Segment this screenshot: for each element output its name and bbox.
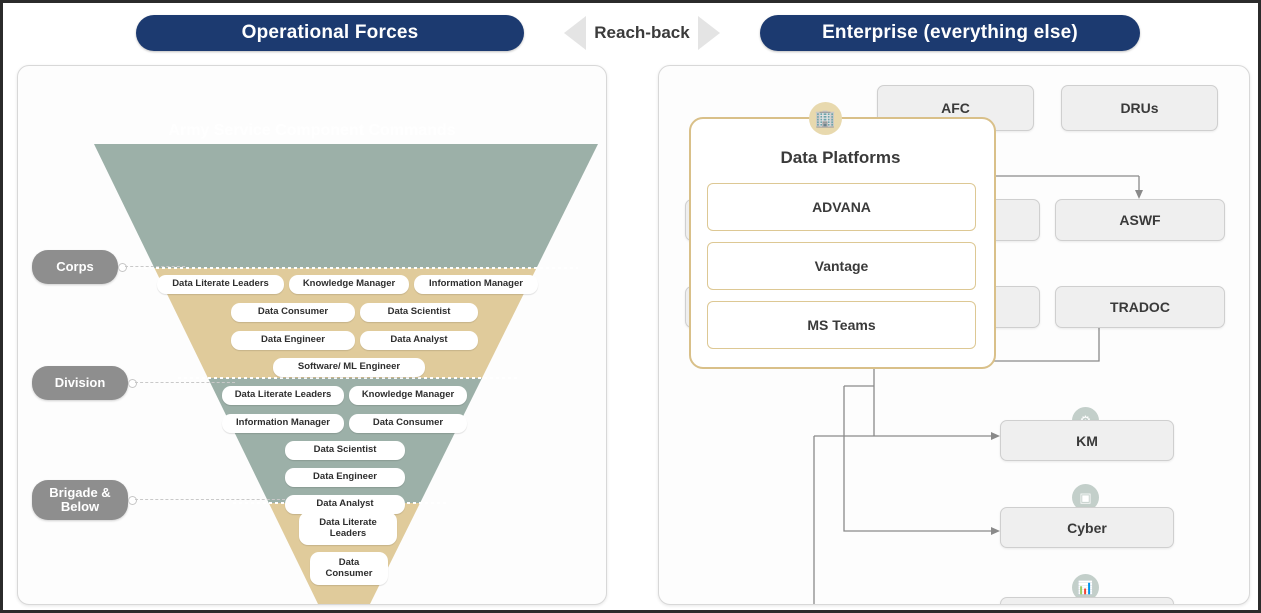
role-chip[interactable]: Data Engineer — [285, 468, 405, 487]
data-platform-item-advana[interactable]: ADVANA — [707, 183, 976, 231]
service-box-data-analytics[interactable]: Data & Analytics — [1000, 597, 1174, 605]
header-pill-enterprise[interactable]: Enterprise (everything else) — [760, 15, 1140, 51]
role-chip[interactable]: Data Analyst — [360, 331, 478, 350]
role-chip[interactable]: Data Scientist — [285, 441, 405, 460]
tier-label-division[interactable]: Division — [32, 366, 128, 400]
role-chip[interactable]: Data Literate Leaders — [299, 512, 397, 545]
org-box-aswf[interactable]: ASWF — [1055, 199, 1225, 241]
role-chip[interactable]: Data Consumer — [231, 303, 355, 322]
connector-line-brigade — [135, 499, 285, 500]
inverted-pyramid: Army Service Component Commands Corps Di… — [18, 66, 606, 604]
tier-label-corps[interactable]: Corps — [32, 250, 118, 284]
data-platform-item-ms-teams[interactable]: MS Teams — [707, 301, 976, 349]
operational-forces-panel: Army Service Component Commands Corps Di… — [17, 65, 607, 605]
service-box-cyber[interactable]: Cyber — [1000, 507, 1174, 548]
role-chip[interactable]: Data Scientist — [360, 303, 478, 322]
diagram-page: Operational Forces Reach-back Enterprise… — [0, 0, 1261, 613]
role-chip[interactable]: Information Manager — [414, 275, 538, 294]
reach-back-label: Reach-back — [594, 23, 689, 43]
connector-line-division — [135, 382, 235, 383]
role-chip[interactable]: Knowledge Manager — [349, 386, 467, 405]
connector-dot-corps — [118, 263, 127, 272]
connector-dot-brigade — [128, 496, 137, 505]
arrow-left-icon — [564, 16, 586, 50]
tier-label-brigade-below[interactable]: Brigade & Below — [32, 480, 128, 520]
data-platforms-title: Data Platforms — [689, 143, 992, 173]
org-box-tradoc[interactable]: TRADOC — [1055, 286, 1225, 328]
reach-back-connector: Reach-back — [528, 15, 756, 51]
header-pill-operational-forces[interactable]: Operational Forces — [136, 15, 524, 51]
connector-dot-division — [128, 379, 137, 388]
role-chip[interactable]: Data Engineer — [231, 331, 355, 350]
enterprise-panel: AFC DRUs AI2C TRAC ASWF HQDA AMC TRADOC … — [658, 65, 1250, 605]
building-icon: 🏢 — [809, 102, 842, 135]
role-chip[interactable]: Software/ ML Engineer — [273, 358, 425, 377]
role-chip[interactable]: Data Literate Leaders — [157, 275, 284, 294]
connector-line-corps — [125, 266, 185, 267]
role-chip[interactable]: Knowledge Manager — [289, 275, 409, 294]
arrow-right-icon — [698, 16, 720, 50]
role-chip[interactable]: Data Consumer — [310, 552, 388, 585]
org-box-drus[interactable]: DRUs — [1061, 85, 1218, 131]
header-bar: Operational Forces Reach-back Enterprise… — [3, 9, 1258, 55]
data-platform-item-vantage[interactable]: Vantage — [707, 242, 976, 290]
role-chip[interactable]: Data Literate Leaders — [222, 386, 344, 405]
role-chip[interactable]: Data Consumer — [349, 414, 467, 433]
role-chip[interactable]: Information Manager — [222, 414, 344, 433]
service-box-km[interactable]: KM — [1000, 420, 1174, 461]
